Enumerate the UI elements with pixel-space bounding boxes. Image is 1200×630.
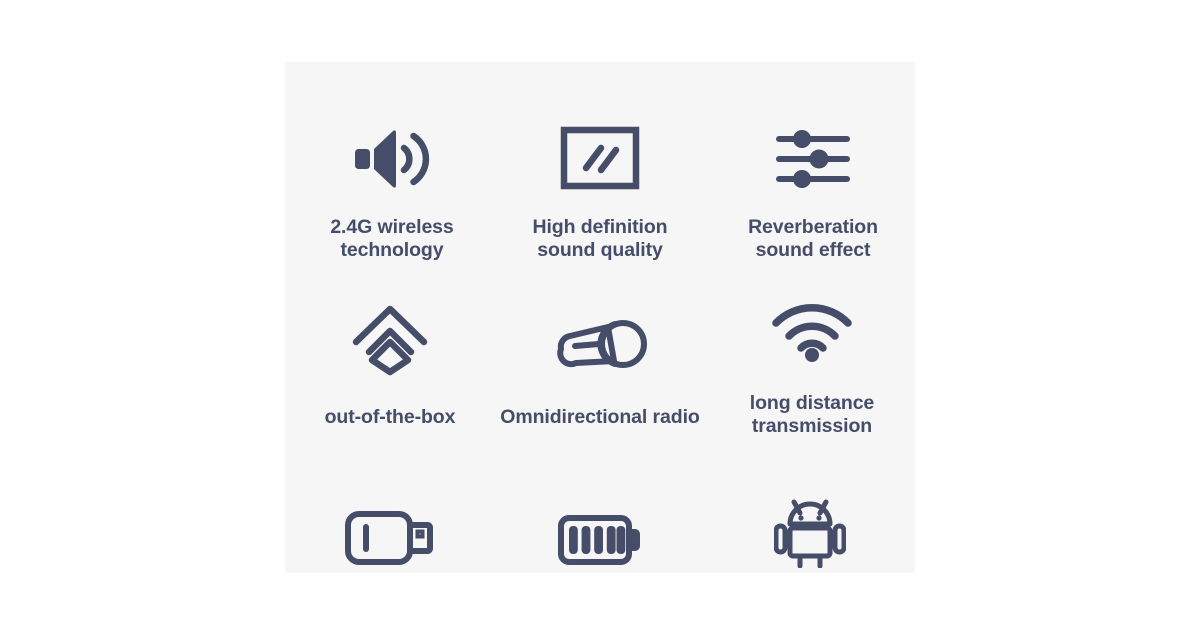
feature-cell-usb: [285, 438, 495, 573]
feature-label: High definition sound quality: [533, 216, 668, 262]
battery-full-icon: [557, 438, 643, 568]
microphone-icon: [551, 262, 649, 376]
feature-cell-android: [705, 438, 915, 573]
feature-label: out-of-the-box: [325, 406, 456, 429]
feature-grid: 2.4G wireless technology High definition…: [285, 62, 915, 573]
feature-cell-reverberation: Reverberation sound effect: [708, 62, 915, 262]
chevrons-diamond-icon: [351, 262, 429, 376]
usb-drive-icon: [344, 438, 436, 568]
feature-cell-hd-sound: High definition sound quality: [495, 62, 705, 262]
feature-cell-long-distance: long distance transmission: [707, 262, 915, 438]
feature-cell-wireless: 2.4G wireless technology: [287, 62, 497, 262]
hd-screen-icon: [560, 62, 640, 190]
feature-label: 2.4G wireless technology: [330, 216, 453, 262]
feature-label: long distance transmission: [750, 392, 874, 438]
product-feature-grid-panel: 2.4G wireless technology High definition…: [285, 62, 915, 573]
feature-cell-out-of-the-box: out-of-the-box: [285, 262, 495, 438]
feature-label: Omnidirectional radio: [500, 406, 699, 429]
feature-cell-omnidirectional-radio: Omnidirectional radio: [495, 262, 705, 438]
equalizer-sliders-icon: [774, 62, 852, 190]
feature-cell-battery: [495, 438, 705, 573]
screenshot-canvas: 2.4G wireless technology High definition…: [0, 0, 1200, 630]
feature-label: Reverberation sound effect: [748, 216, 878, 262]
android-robot-icon: [774, 438, 846, 568]
speaker-waves-icon: [353, 62, 431, 190]
wifi-signal-icon: [771, 262, 853, 362]
